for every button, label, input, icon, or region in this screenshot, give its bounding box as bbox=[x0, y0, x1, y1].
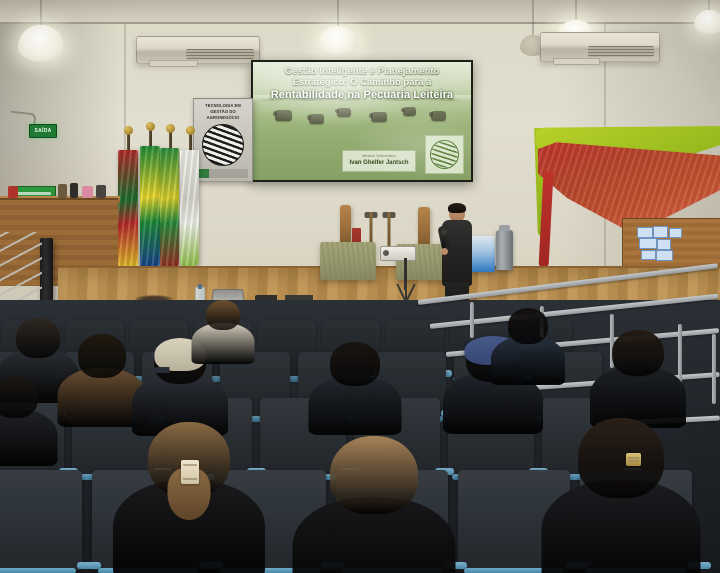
slide-presenter-box: Médico Veterinário Ivan Ghelfer Jantsch bbox=[342, 150, 416, 172]
wood-post bbox=[418, 207, 430, 247]
slide-cow bbox=[337, 108, 351, 117]
presenter-hair bbox=[448, 203, 466, 213]
slide-cow bbox=[371, 112, 387, 122]
attendee-head bbox=[612, 330, 664, 376]
banner-line3: AGRONEGÓCIO bbox=[207, 115, 240, 121]
slide-cow bbox=[309, 114, 324, 124]
attendee-head bbox=[508, 308, 548, 344]
projector-lens bbox=[383, 250, 389, 256]
notice-paper bbox=[669, 228, 682, 238]
pendant-light bbox=[18, 0, 64, 62]
air-conditioner bbox=[540, 32, 660, 62]
flag-finial bbox=[166, 124, 175, 133]
attendee-head bbox=[16, 318, 60, 358]
wood-post bbox=[340, 205, 351, 245]
air-conditioner bbox=[136, 36, 260, 64]
auditorium-seating bbox=[0, 300, 720, 573]
attendee-row2-right bbox=[508, 308, 548, 414]
flag-finial bbox=[124, 126, 133, 135]
farm-tool-hoe bbox=[382, 212, 396, 248]
notice-paper bbox=[637, 227, 653, 238]
attendee-front-right-curly bbox=[578, 418, 664, 568]
hair-clip bbox=[181, 460, 199, 484]
ledge-item bbox=[96, 185, 106, 198]
slide-logo-box bbox=[425, 135, 464, 174]
attendee-head bbox=[578, 418, 664, 498]
seat-armrest bbox=[77, 562, 101, 569]
notice-paper bbox=[639, 238, 657, 249]
notice-paper bbox=[656, 250, 673, 261]
slide-title-line3: Rentabilidade na Pecuária Leiteira bbox=[257, 89, 467, 102]
pendant-light bbox=[694, 0, 720, 34]
auditorium-photo: SAÍDA Gestão Inteligente e Planejamento … bbox=[0, 0, 720, 573]
flag-finial bbox=[146, 122, 155, 131]
ledge-item bbox=[70, 183, 78, 198]
projection-screen-frame: Gestão Inteligente e Planejamento Estrat… bbox=[251, 60, 473, 182]
notice-paper bbox=[641, 250, 656, 260]
milk-can bbox=[496, 230, 513, 270]
aisle-railing-post bbox=[470, 302, 474, 338]
flag-institution bbox=[180, 150, 199, 266]
feed-bag bbox=[471, 236, 495, 272]
attendee-head bbox=[0, 376, 38, 418]
slide-title: Gestão Inteligente e Planejamento Estrat… bbox=[257, 66, 467, 102]
presenter-with-microphone bbox=[440, 204, 474, 300]
slide-presenter-role: Médico Veterinário bbox=[362, 155, 395, 159]
microphone bbox=[442, 233, 446, 249]
pendant-light bbox=[318, 0, 358, 58]
slide-cow bbox=[431, 111, 446, 121]
slide-presenter-name: Ivan Ghelfer Jantsch bbox=[349, 160, 408, 167]
exit-sign: SAÍDA bbox=[29, 124, 57, 138]
slide-cow bbox=[275, 110, 292, 121]
hair-clip bbox=[626, 453, 641, 466]
attendee-front-blonde bbox=[330, 436, 418, 573]
presenter-hand bbox=[441, 248, 448, 255]
ledge-item bbox=[58, 184, 67, 198]
flag-brazil bbox=[140, 146, 160, 268]
notice-paper bbox=[657, 239, 671, 250]
ledge-item bbox=[8, 186, 18, 198]
notice-paper bbox=[653, 226, 668, 238]
attendee-head bbox=[330, 342, 380, 386]
aisle-railing-post bbox=[712, 334, 716, 404]
attendee-head bbox=[206, 300, 240, 330]
attendee-brown-hoodie bbox=[78, 334, 126, 448]
striped-globe-logo bbox=[202, 124, 244, 166]
slide-title-line2: Estratégico: O Caminho para a bbox=[257, 77, 467, 88]
attendee-front-ponytail bbox=[148, 422, 230, 566]
slide-cow bbox=[403, 107, 416, 116]
attendee-head bbox=[78, 334, 126, 378]
hay-bale bbox=[320, 242, 376, 280]
projection-screen: Gestão Inteligente e Planejamento Estrat… bbox=[253, 62, 471, 180]
banner-footer-logos bbox=[198, 169, 248, 178]
flag-green-yellow bbox=[160, 148, 179, 268]
ledge-item bbox=[82, 186, 93, 198]
globe-sphere-logo bbox=[430, 140, 459, 169]
exit-sign-label: SAÍDA bbox=[34, 129, 51, 134]
attendee-head bbox=[330, 436, 418, 514]
course-banner: TECNOLOGIA EM GESTÃO DO AGRONEGÓCIO bbox=[193, 98, 253, 182]
projector-tripod bbox=[390, 258, 420, 302]
attendee-stage-side bbox=[206, 300, 240, 400]
attendee-far-left-edge bbox=[0, 376, 38, 488]
flag-finial bbox=[186, 126, 195, 135]
slide-title-line1: Gestão Inteligente e Planejamento bbox=[257, 66, 467, 77]
flag-rio-grande-do-sul bbox=[118, 150, 138, 268]
